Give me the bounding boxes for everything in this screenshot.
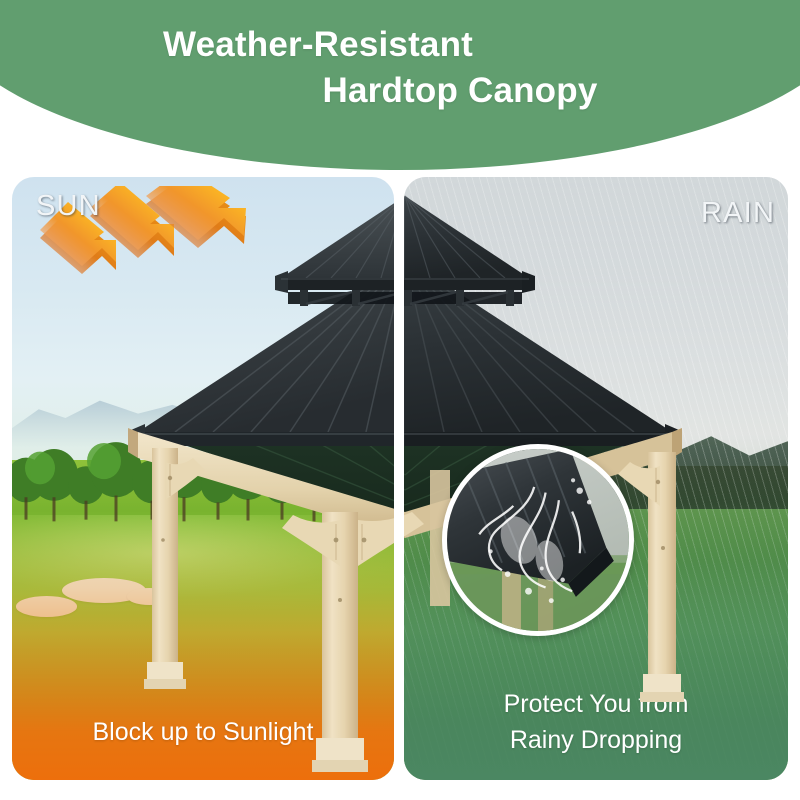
water-runoff-graphic [447,449,629,631]
header-band: Weather-Resistant Hardtop Canopy [0,0,800,175]
page-title: Weather-Resistant Hardtop Canopy [0,22,800,114]
caption-rain-line1: Protect You from [504,690,689,718]
caption-sun: Block up to Sunlight [12,714,394,750]
caption-rain-line2: Rainy Dropping [510,726,682,754]
label-sun: SUN [36,190,101,223]
label-rain: RAIN [701,197,775,230]
title-line-1: Weather-Resistant [0,22,718,68]
caption-rain: Protect You from Rainy Dropping [404,686,788,758]
title-line-2: Hardtop Canopy [60,68,800,114]
water-runoff-closeup [442,444,634,636]
